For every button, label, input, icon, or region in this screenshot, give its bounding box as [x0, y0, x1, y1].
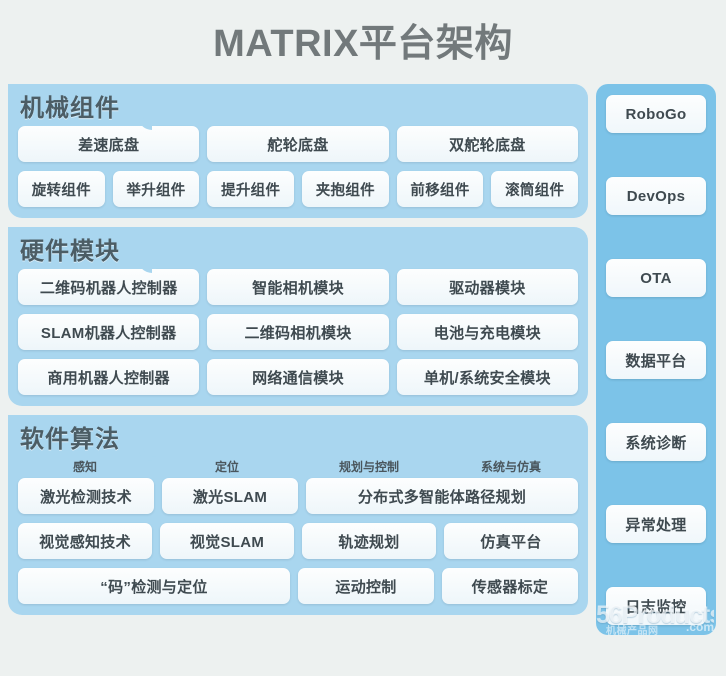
sidebar-item-robogo[interactable]: RoboGo [606, 95, 706, 133]
sidebar-list: RoboGo DevOps OTA 数据平台 系统诊断 异常处理 日志监控 [606, 95, 706, 625]
column-label-planning-control: 规划与控制 [302, 458, 436, 475]
column-label-perception: 感知 [18, 458, 152, 475]
platform-services-sidebar: RoboGo DevOps OTA 数据平台 系统诊断 异常处理 日志监控 56… [596, 84, 716, 635]
card-rotating-module[interactable]: 旋转组件 [18, 171, 105, 207]
section-tab-wrap: 硬件模块 [18, 227, 578, 269]
card-laser-detection-tech[interactable]: 激光检测技术 [18, 478, 154, 514]
section-title: 机械组件 [20, 88, 120, 123]
card-chassis-steering-wheel[interactable]: 舵轮底盘 [207, 126, 388, 162]
card-smart-camera-module[interactable]: 智能相机模块 [207, 269, 388, 305]
card-roller-module[interactable]: 滚筒组件 [491, 171, 578, 207]
card-code-detection-localization[interactable]: “码”检测与定位 [18, 568, 290, 604]
card-network-communication-module[interactable]: 网络通信模块 [207, 359, 388, 395]
card-row: 二维码机器人控制器 智能相机模块 驱动器模块 [18, 269, 578, 305]
card-row: 商用机器人控制器 网络通信模块 单机/系统安全模块 [18, 359, 578, 395]
card-slam-robot-controller[interactable]: SLAM机器人控制器 [18, 314, 199, 350]
card-jacking-module[interactable]: 举升组件 [113, 171, 200, 207]
section-title: 硬件模块 [20, 231, 120, 266]
section-tab: 机械组件 [8, 84, 142, 126]
card-battery-charging-module[interactable]: 电池与充电模块 [397, 314, 578, 350]
sidebar-item-log-monitoring[interactable]: 日志监控 [606, 587, 706, 625]
card-laser-slam[interactable]: 激光SLAM [162, 478, 298, 514]
column-label-localization: 定位 [160, 458, 294, 475]
sidebar-item-exception-handling[interactable]: 异常处理 [606, 505, 706, 543]
card-row: SLAM机器人控制器 二维码相机模块 电池与充电模块 [18, 314, 578, 350]
card-commercial-robot-controller[interactable]: 商用机器人控制器 [18, 359, 199, 395]
card-motion-control[interactable]: 运动控制 [298, 568, 434, 604]
card-row: 视觉感知技术 视觉SLAM 轨迹规划 仿真平台 [18, 523, 578, 559]
card-qrcode-robot-controller[interactable]: 二维码机器人控制器 [18, 269, 199, 305]
card-clamping-module[interactable]: 夹抱组件 [302, 171, 389, 207]
section-tab: 硬件模块 [8, 227, 142, 269]
page-title: MATRIX平台架构 [0, 0, 726, 84]
card-distributed-multi-agent-path-planning[interactable]: 分布式多智能体路径规划 [306, 478, 578, 514]
card-row: 旋转组件 举升组件 提升组件 夹抱组件 前移组件 滚筒组件 [18, 171, 578, 207]
sidebar-item-ota[interactable]: OTA [606, 259, 706, 297]
sections-column: 机械组件 差速底盘 舵轮底盘 双舵轮底盘 旋转组件 举升组件 提升组件 夹抱组件… [0, 84, 596, 615]
sidebar-item-data-platform[interactable]: 数据平台 [606, 341, 706, 379]
card-driver-module[interactable]: 驱动器模块 [397, 269, 578, 305]
section-title: 软件算法 [20, 419, 120, 454]
column-label-system-simulation: 系统与仿真 [444, 458, 578, 475]
card-sensor-calibration[interactable]: 传感器标定 [442, 568, 578, 604]
card-trajectory-planning[interactable]: 轨迹规划 [302, 523, 436, 559]
card-machine-system-safety-module[interactable]: 单机/系统安全模块 [397, 359, 578, 395]
card-visual-slam[interactable]: 视觉SLAM [160, 523, 294, 559]
section-software-algorithms: 软件算法 感知 定位 规划与控制 系统与仿真 激光检测技术 激光SLAM 分布式… [8, 415, 588, 615]
section-tab-wrap: 软件算法 [18, 415, 578, 457]
card-simulation-platform[interactable]: 仿真平台 [444, 523, 578, 559]
software-column-labels: 感知 定位 规划与控制 系统与仿真 [18, 457, 578, 478]
card-forward-module[interactable]: 前移组件 [397, 171, 484, 207]
sidebar-item-devops[interactable]: DevOps [606, 177, 706, 215]
architecture-diagram: 机械组件 差速底盘 舵轮底盘 双舵轮底盘 旋转组件 举升组件 提升组件 夹抱组件… [0, 84, 726, 676]
section-tab-wrap: 机械组件 [18, 84, 578, 126]
card-row: 激光检测技术 激光SLAM 分布式多智能体路径规划 [18, 478, 578, 514]
card-lifting-module[interactable]: 提升组件 [207, 171, 294, 207]
card-chassis-differential[interactable]: 差速底盘 [18, 126, 199, 162]
card-visual-perception-tech[interactable]: 视觉感知技术 [18, 523, 152, 559]
section-tab: 软件算法 [8, 415, 142, 457]
card-chassis-dual-steering-wheel[interactable]: 双舵轮底盘 [397, 126, 578, 162]
section-hardware-modules: 硬件模块 二维码机器人控制器 智能相机模块 驱动器模块 SLAM机器人控制器 二… [8, 227, 588, 406]
card-row: “码”检测与定位 运动控制 传感器标定 [18, 568, 578, 604]
card-qrcode-camera-module[interactable]: 二维码相机模块 [207, 314, 388, 350]
card-row: 差速底盘 舵轮底盘 双舵轮底盘 [18, 126, 578, 162]
sidebar-item-system-diagnostics[interactable]: 系统诊断 [606, 423, 706, 461]
section-mechanical-components: 机械组件 差速底盘 舵轮底盘 双舵轮底盘 旋转组件 举升组件 提升组件 夹抱组件… [8, 84, 588, 218]
